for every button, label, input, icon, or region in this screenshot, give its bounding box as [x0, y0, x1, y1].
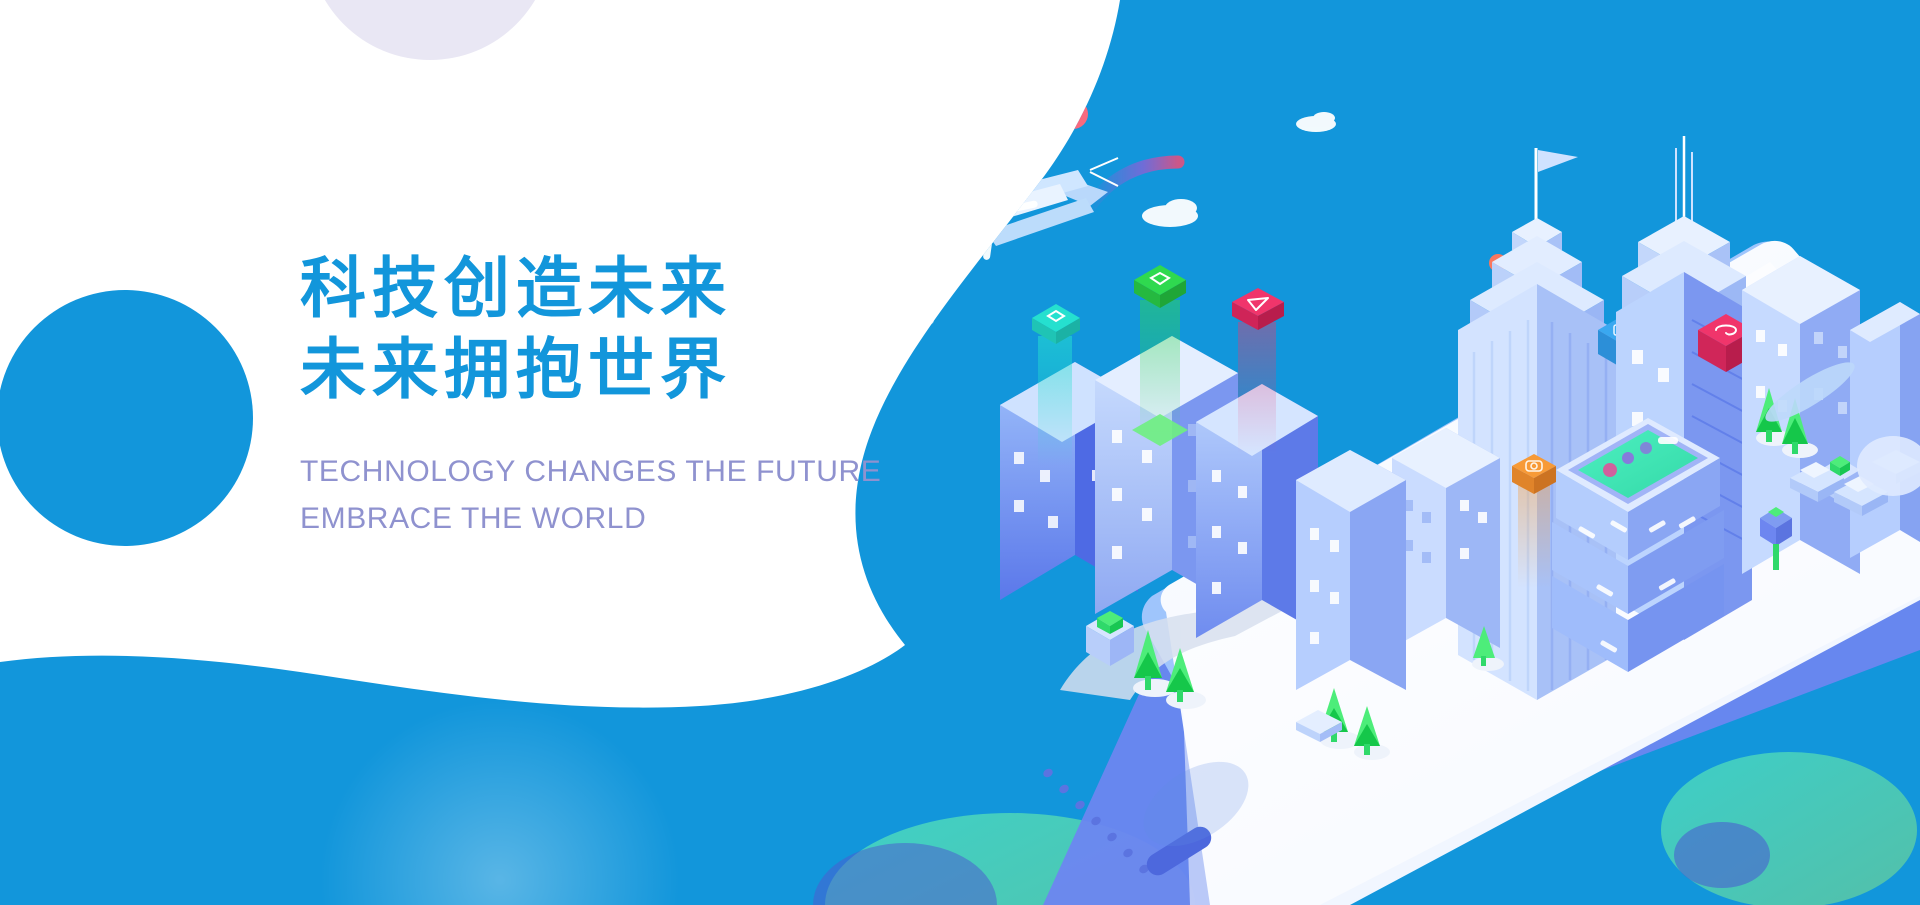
sky-group — [890, 99, 1507, 329]
airplane-trail — [1090, 162, 1178, 206]
beam — [1238, 322, 1276, 454]
headline-line-1: 科技创造未来 — [300, 248, 860, 329]
banner-root: 科技创造未来 未来拥抱世界 TECHNOLOGY CHANGES THE FUT… — [0, 0, 1920, 905]
building — [1742, 256, 1860, 574]
cloud-icon — [890, 307, 934, 329]
cloud-icon — [1142, 199, 1198, 227]
flag-icon — [1538, 150, 1578, 172]
pink-planet-highlight — [1058, 99, 1078, 119]
page-title: 科技创造未来 未来拥抱世界 — [300, 248, 860, 409]
banner-text-block: 科技创造未来 未来拥抱世界 TECHNOLOGY CHANGES THE FUT… — [300, 248, 860, 542]
cloud-icon — [1296, 112, 1336, 132]
pink-planet — [1058, 99, 1088, 129]
building — [1392, 428, 1500, 648]
beam — [1518, 478, 1550, 588]
isometric-city-illustration — [0, 0, 1920, 905]
banner-subtitle: TECHNOLOGY CHANGES THE FUTURE EMBRACE TH… — [300, 449, 860, 542]
subtitle-line-2: EMBRACE THE WORLD — [300, 496, 860, 543]
compass-decor-icon — [951, 248, 973, 270]
green-shield-badge — [1134, 265, 1186, 440]
orange-camera-badge — [1512, 454, 1556, 588]
subtitle-line-1: TECHNOLOGY CHANGES THE FUTURE — [300, 449, 860, 496]
propeller-icon — [952, 166, 1038, 261]
building — [1296, 450, 1406, 690]
building — [1850, 302, 1920, 558]
headline-line-2: 未来拥抱世界 — [300, 329, 860, 410]
beam — [1038, 336, 1072, 466]
